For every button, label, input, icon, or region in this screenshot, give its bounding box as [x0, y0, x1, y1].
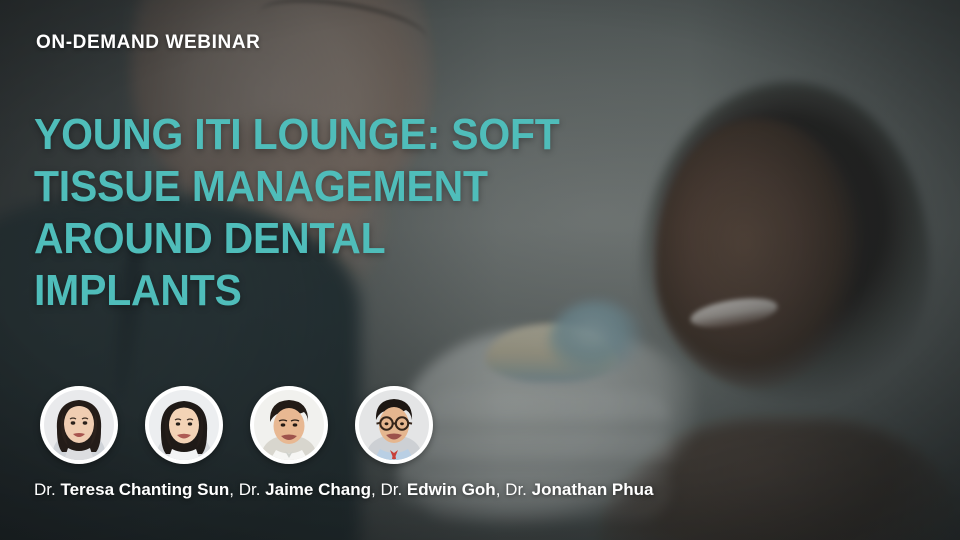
- speaker-avatar-row: [40, 386, 433, 464]
- avatar-photo-edwin-goh: [254, 390, 324, 460]
- avatar-photo-teresa-chanting-sun: [44, 390, 114, 460]
- avatar: [250, 386, 328, 464]
- speaker-2-prefix: Dr.: [239, 480, 261, 499]
- speaker-2-name: Jaime Chang: [265, 480, 371, 499]
- avatar: [40, 386, 118, 464]
- avatar-photo-jonathan-phua: [359, 390, 429, 460]
- avatar-photo-jaime-chang: [149, 390, 219, 460]
- speaker-3-name: Edwin Goh: [407, 480, 496, 499]
- avatar: [145, 386, 223, 464]
- speaker-1-prefix: Dr.: [34, 480, 56, 499]
- speaker-4-prefix: Dr.: [505, 480, 527, 499]
- speaker-1-name: Teresa Chanting Sun: [60, 480, 229, 499]
- eyebrow-label: ON-DEMAND WEBINAR: [36, 33, 260, 52]
- speaker-names-line: Dr. Teresa Chanting Sun, Dr. Jaime Chang…: [34, 480, 654, 500]
- speaker-4-name: Jonathan Phua: [532, 480, 654, 499]
- avatar: [355, 386, 433, 464]
- speaker-3-prefix: Dr.: [380, 480, 402, 499]
- webinar-banner: ON-DEMAND WEBINAR YOUNG ITI LOUNGE: SOFT…: [0, 0, 960, 540]
- page-title: YOUNG ITI LOUNGE: SOFT TISSUE MANAGEMENT…: [34, 109, 592, 317]
